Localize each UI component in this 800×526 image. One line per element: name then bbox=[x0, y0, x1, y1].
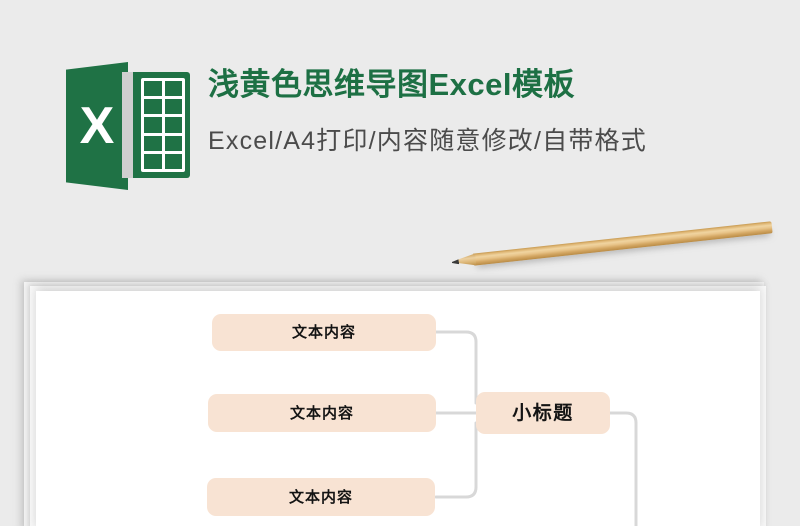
page-subtitle: Excel/A4打印/内容随意修改/自带格式 bbox=[208, 125, 788, 159]
excel-logo-icon: X bbox=[66, 60, 194, 192]
mindmap-node-branch-1[interactable]: 文本内容 bbox=[212, 314, 436, 351]
pencil-tip bbox=[453, 253, 476, 267]
mindmap-node-branch-3[interactable]: 文本内容 bbox=[207, 478, 435, 516]
excel-logo-cell bbox=[144, 81, 162, 96]
excel-logo-cell bbox=[144, 117, 162, 132]
header-banner: X 浅黄色思维导图Excel模板 Excel/A4打印/内容随意修改/自带格式 bbox=[0, 0, 800, 240]
excel-logo-cell bbox=[165, 154, 183, 169]
connector-branch-1 bbox=[436, 332, 476, 403]
excel-logo-spine bbox=[122, 72, 133, 178]
excel-logo-cell bbox=[165, 81, 183, 96]
mindmap-node-label: 文本内容 bbox=[290, 406, 354, 421]
excel-logo-cell bbox=[165, 117, 183, 132]
excel-logo-cell bbox=[144, 136, 162, 151]
mindmap-node-label: 文本内容 bbox=[289, 490, 353, 505]
excel-logo-cell bbox=[144, 99, 162, 114]
mindmap-node-branch-2[interactable]: 文本内容 bbox=[208, 394, 436, 432]
connector-main-right bbox=[610, 413, 636, 526]
excel-logo-grid bbox=[141, 78, 185, 172]
excel-logo-cell bbox=[144, 154, 162, 169]
header-text-block: 浅黄色思维导图Excel模板 Excel/A4打印/内容随意修改/自带格式 bbox=[208, 66, 788, 159]
pencil-lead bbox=[452, 259, 459, 265]
mindmap-main-label: 小标题 bbox=[512, 404, 574, 423]
connector-branch-3 bbox=[436, 423, 476, 497]
excel-logo-cell bbox=[165, 136, 183, 151]
mindmap-node-label: 文本内容 bbox=[292, 325, 356, 340]
page-title: 浅黄色思维导图Excel模板 bbox=[208, 66, 788, 105]
excel-logo-cell bbox=[165, 99, 183, 114]
screenshot-stage: X 浅黄色思维导图Excel模板 Excel/A4打印/内容随意修改/自带格式 bbox=[0, 0, 800, 526]
mindmap-node-main[interactable]: 小标题 bbox=[476, 392, 610, 434]
excel-logo-letter: X bbox=[66, 62, 128, 190]
